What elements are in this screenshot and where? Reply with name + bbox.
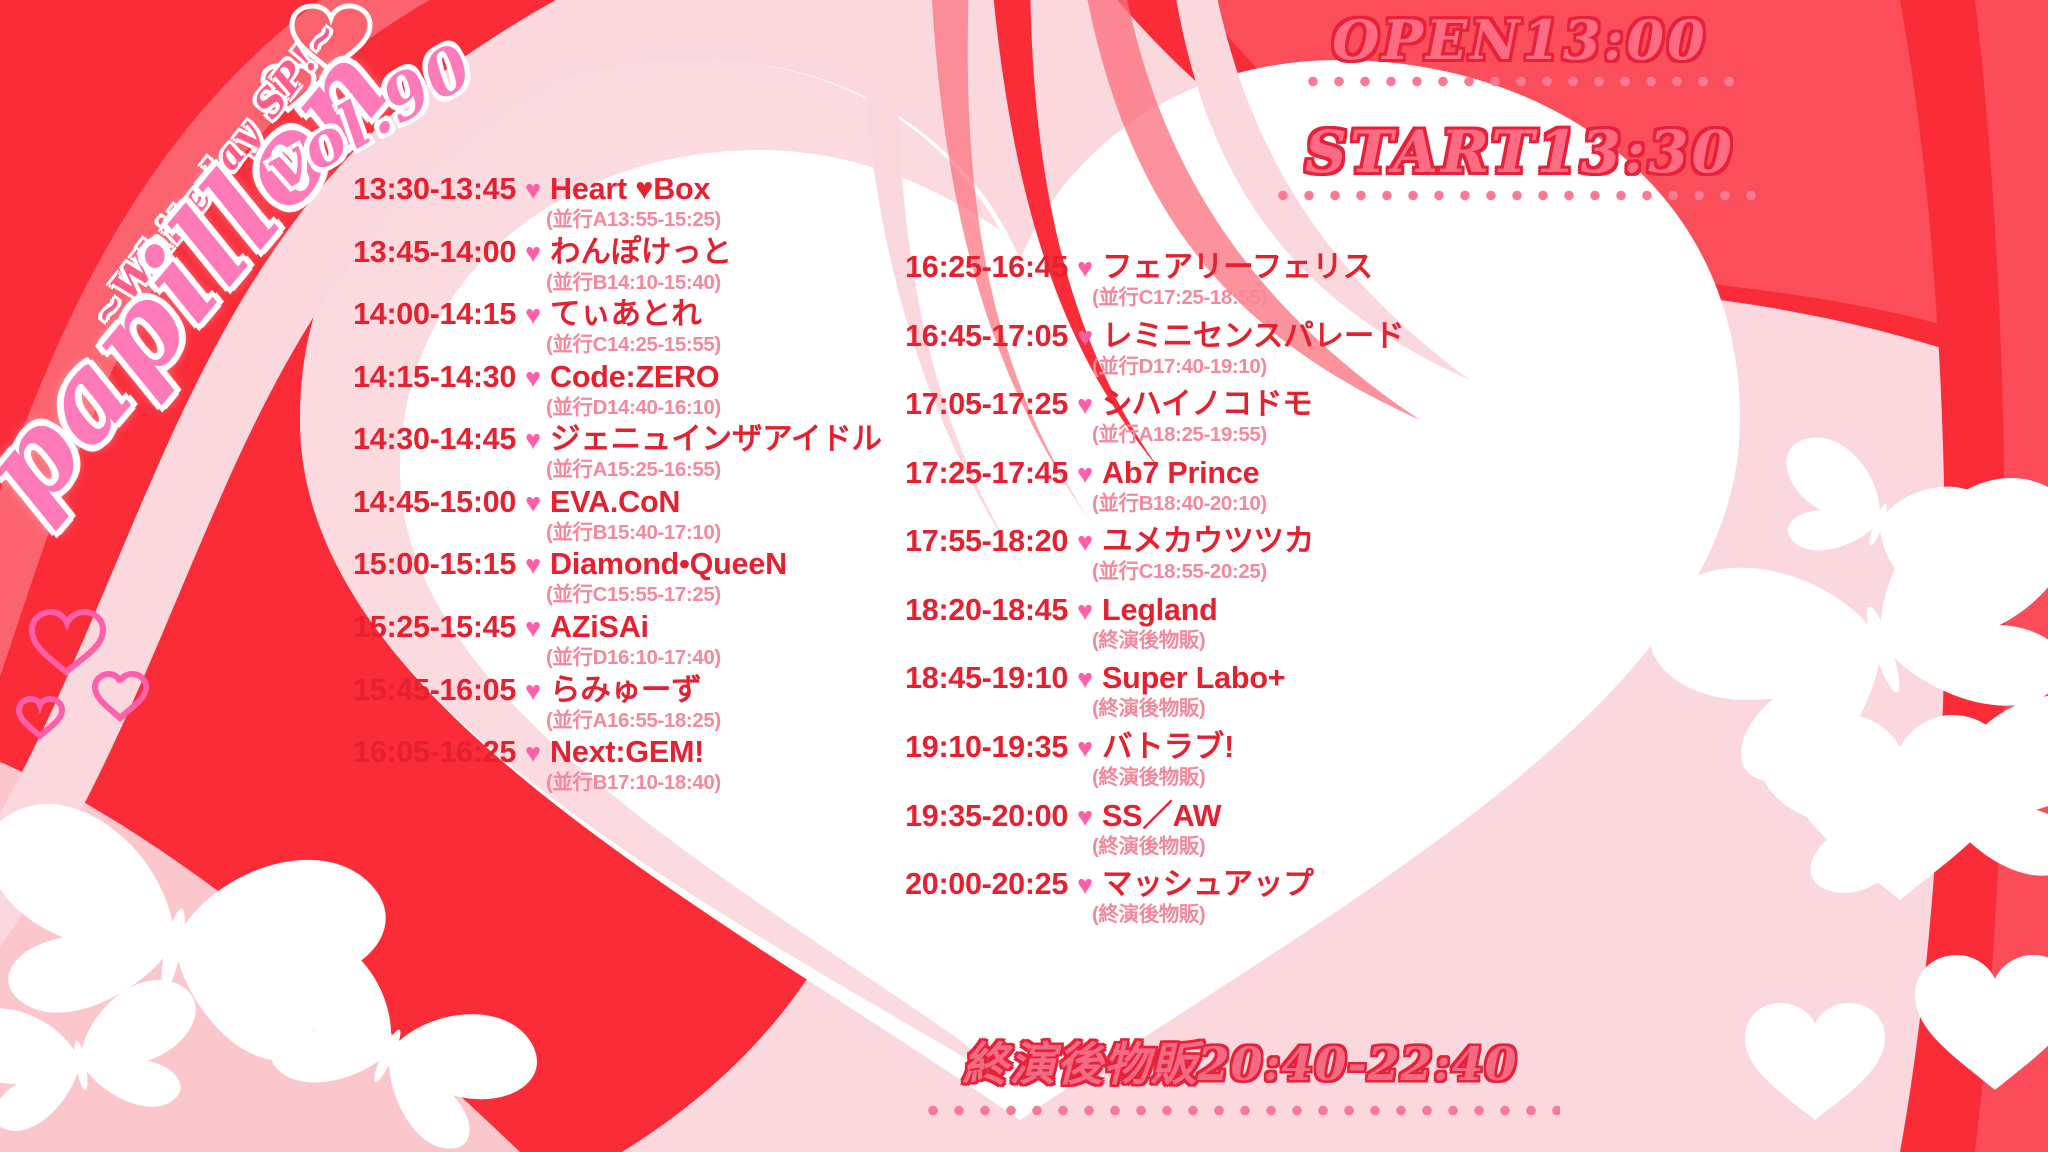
schedule-slot: 18:20-18:45♥Legland(終演後物販)	[830, 593, 1390, 654]
schedule-slot-note: (終演後物販)	[1092, 835, 1390, 860]
schedule-slot: 16:05-16:25♥Next:GEM!(並行B17:10-18:40)	[300, 735, 860, 796]
schedule-column-right: 16:25-16:45♥フェアリーフェリス(並行C17:25-18:55)16:…	[830, 250, 1390, 936]
schedule-slot-artist: ユメカウツツカ	[1102, 524, 1314, 560]
schedule-slot-main: 17:25-17:45♥Ab7 Prince	[830, 456, 1390, 492]
schedule-slot: 19:35-20:00♥SS／AW(終演後物販)	[830, 799, 1390, 860]
schedule-slot: 13:45-14:00♥わんぽけっと(並行B14:10-15:40)	[300, 235, 860, 296]
schedule-slot-artist: SS／AW	[1102, 799, 1221, 835]
schedule-slot-artist: EVA.CoN	[550, 485, 680, 521]
schedule-slot: 14:15-14:30♥Code:ZERO(並行D14:40-16:10)	[300, 360, 860, 421]
schedule-slot-main: 19:35-20:00♥SS／AW	[830, 799, 1390, 835]
schedule-slot: 15:00-15:15♥Diamond•QueeN(並行C15:55-17:25…	[300, 547, 860, 608]
schedule-slot-note: (並行C18:55-20:25)	[1092, 560, 1390, 585]
schedule-slot-main: 13:30-13:45♥Heart ♥Box	[300, 172, 860, 208]
schedule-slot-main: 15:00-15:15♥Diamond•QueeN	[300, 547, 860, 583]
footer-divider	[920, 1104, 1560, 1117]
schedule-slot-note: (並行B15:40-17:10)	[546, 521, 860, 546]
schedule-slot-time: 14:00-14:15	[300, 297, 516, 333]
schedule-slot: 15:25-15:45♥AZiSAi(並行D16:10-17:40)	[300, 610, 860, 671]
schedule-slot: 15:45-16:05♥らみゅーず(並行A16:55-18:25)	[300, 673, 860, 734]
schedule-slot-artist: Next:GEM!	[550, 735, 704, 771]
heart-icon: ♥	[1077, 598, 1093, 625]
schedule-slot-time: 18:45-19:10	[830, 661, 1068, 697]
schedule-slot-main: 18:45-19:10♥Super Labo+	[830, 661, 1390, 697]
schedule-slot-time: 14:15-14:30	[300, 360, 516, 396]
schedule-slot-artist: Legland	[1102, 593, 1218, 629]
schedule-slot: 14:30-14:45♥ジェニュインザアイドル(並行A15:25-16:55)	[300, 422, 860, 483]
heart-icon: ♥	[1077, 461, 1093, 488]
heart-icon: ♥	[525, 427, 541, 454]
open-start-block: OPEN13:00 START13:30	[1180, 12, 1860, 202]
schedule-slot-artist: AZiSAi	[550, 610, 649, 646]
schedule-slot-note: (並行A18:25-19:55)	[1092, 423, 1390, 448]
schedule-slot-main: 13:45-14:00♥わんぽけっと	[300, 235, 860, 271]
schedule-slot-time: 17:55-18:20	[830, 524, 1068, 560]
schedule-slot-note: (並行C17:25-18:55)	[1092, 286, 1390, 311]
schedule-slot-artist: Super Labo+	[1102, 661, 1285, 697]
schedule-slot: 17:55-18:20♥ユメカウツツカ(並行C18:55-20:25)	[830, 524, 1390, 585]
open-time-label: OPEN13:00	[1180, 12, 1860, 69]
schedule-slot-main: 15:25-15:45♥AZiSAi	[300, 610, 860, 646]
heart-icon: ♥	[525, 177, 541, 204]
schedule-slot-main: 14:15-14:30♥Code:ZERO	[300, 360, 860, 396]
heart-icon: ♥	[1077, 804, 1093, 831]
schedule-slot-note: (並行B18:40-20:10)	[1092, 492, 1390, 517]
schedule-slot-time: 16:45-17:05	[830, 319, 1068, 355]
heart-icon: ♥	[1077, 392, 1093, 419]
schedule-slot-time: 19:10-19:35	[830, 730, 1068, 766]
schedule-slot-main: 19:10-19:35♥バトラブ!	[830, 730, 1390, 766]
heart-icon: ♥	[525, 615, 541, 642]
schedule-slot-note: (並行A13:55-15:25)	[546, 208, 860, 233]
schedule-slot-note: (並行A15:25-16:55)	[546, 458, 860, 483]
schedule-slot-main: 15:45-16:05♥らみゅーず	[300, 673, 860, 709]
schedule-slot-note: (並行B14:10-15:40)	[546, 271, 860, 296]
schedule-slot-artist: Ab7 Prince	[1102, 456, 1259, 492]
schedule-slot-time: 14:30-14:45	[300, 422, 516, 458]
schedule-slot-note: (終演後物販)	[1092, 697, 1390, 722]
schedule-slot-note: (並行A16:55-18:25)	[546, 709, 860, 734]
heart-icon: ♥	[1077, 324, 1093, 351]
schedule-slot-note: (並行B17:10-18:40)	[546, 771, 860, 796]
schedule-slot-time: 13:30-13:45	[300, 172, 516, 208]
schedule-slot-time: 13:45-14:00	[300, 235, 516, 271]
schedule-slot-time: 16:25-16:45	[830, 250, 1068, 286]
schedule-slot: 17:05-17:25♥シハイノコドモ(並行A18:25-19:55)	[830, 387, 1390, 448]
schedule-slot-artist: てぃあとれ	[550, 297, 702, 333]
heart-icon: ♥	[525, 365, 541, 392]
heart-icon: ♥	[525, 678, 541, 705]
schedule-slot-main: 20:00-20:25♥マッシュアップ	[830, 867, 1390, 903]
schedule-slot-artist: らみゅーず	[550, 673, 702, 709]
schedule-slot-artist: レミニセンスパレード	[1102, 319, 1404, 355]
schedule-slot-main: 14:30-14:45♥ジェニュインザアイドル	[300, 422, 860, 458]
schedule-slot-artist: わんぽけっと	[550, 235, 732, 271]
schedule-slot: 19:10-19:35♥バトラブ!(終演後物販)	[830, 730, 1390, 791]
schedule-slot-time: 20:00-20:25	[830, 867, 1068, 903]
heart-icon: ♥	[1077, 255, 1093, 282]
schedule-slot-time: 17:05-17:25	[830, 387, 1068, 423]
schedule-slot: 13:30-13:45♥Heart ♥Box(並行A13:55-15:25)	[300, 172, 860, 233]
schedule-slot-main: 16:25-16:45♥フェアリーフェリス	[830, 250, 1390, 286]
schedule-slot-note: (並行C15:55-17:25)	[546, 583, 860, 608]
schedule-slot-main: 17:05-17:25♥シハイノコドモ	[830, 387, 1390, 423]
schedule-slot-note: (終演後物販)	[1092, 903, 1390, 928]
schedule-slot-note: (並行C14:25-15:55)	[546, 333, 860, 358]
heart-icon: ♥	[1077, 529, 1093, 556]
schedule-slot-time: 15:00-15:15	[300, 547, 516, 583]
schedule-slot-time: 16:05-16:25	[300, 735, 516, 771]
schedule-slot-artist: シハイノコドモ	[1102, 387, 1313, 423]
schedule-column-left: 13:30-13:45♥Heart ♥Box(並行A13:55-15:25)13…	[300, 172, 860, 798]
schedule-slot-time: 18:20-18:45	[830, 593, 1068, 629]
heart-icon: ♥	[1077, 872, 1093, 899]
schedule-slot-time: 17:25-17:45	[830, 456, 1068, 492]
heart-icon: ♥	[525, 490, 541, 517]
schedule-slot-time: 15:45-16:05	[300, 673, 516, 709]
schedule-slot-main: 17:55-18:20♥ユメカウツツカ	[830, 524, 1390, 560]
schedule-slot-note: (終演後物販)	[1092, 766, 1390, 791]
open-divider	[1300, 75, 1740, 88]
heart-icon: ♥	[1077, 735, 1093, 762]
schedule-slot-main: 14:00-14:15♥てぃあとれ	[300, 297, 860, 333]
event-flyer: ~Whiteday SP!~ papillon vol.90 OPEN13:00…	[0, 0, 2048, 1152]
heart-icon: ♥	[525, 302, 541, 329]
schedule-slot-note: (並行D16:10-17:40)	[546, 646, 860, 671]
schedule-slot-note: (並行D14:40-16:10)	[546, 396, 860, 421]
schedule-slot-time: 14:45-15:00	[300, 485, 516, 521]
schedule-slot: 20:00-20:25♥マッシュアップ(終演後物販)	[830, 867, 1390, 928]
schedule-slot-artist: Code:ZERO	[550, 360, 719, 396]
schedule-slot: 16:45-17:05♥レミニセンスパレード(並行D17:40-19:10)	[830, 319, 1390, 380]
heart-icon: ♥	[1077, 666, 1093, 693]
schedule-slot: 17:25-17:45♥Ab7 Prince(並行B18:40-20:10)	[830, 456, 1390, 517]
heart-icon: ♥	[525, 740, 541, 767]
schedule-slot: 14:00-14:15♥てぃあとれ(並行C14:25-15:55)	[300, 297, 860, 358]
schedule-slot-note: (並行D17:40-19:10)	[1092, 355, 1390, 380]
schedule-slot-note: (終演後物販)	[1092, 629, 1390, 654]
heart-icon: ♥	[525, 552, 541, 579]
heart-icon: ♥	[525, 240, 541, 267]
start-divider	[1270, 189, 1770, 202]
schedule-slot-main: 18:20-18:45♥Legland	[830, 593, 1390, 629]
schedule-slot-main: 14:45-15:00♥EVA.CoN	[300, 485, 860, 521]
schedule-slot-artist: フェアリーフェリス	[1102, 250, 1373, 286]
schedule-slot: 18:45-19:10♥Super Labo+(終演後物販)	[830, 661, 1390, 722]
schedule-slot-artist: Diamond•QueeN	[550, 547, 787, 583]
schedule-slot-main: 16:45-17:05♥レミニセンスパレード	[830, 319, 1390, 355]
schedule-slot-time: 15:25-15:45	[300, 610, 516, 646]
footer-block: 終演後物販20:40-22:40	[880, 1028, 1600, 1117]
schedule-slot: 16:25-16:45♥フェアリーフェリス(並行C17:25-18:55)	[830, 250, 1390, 311]
schedule-slot-main: 16:05-16:25♥Next:GEM!	[300, 735, 860, 771]
start-time-label: START13:30	[1180, 122, 1860, 183]
schedule-slot-artist: バトラブ!	[1102, 730, 1234, 766]
post-show-merch-label: 終演後物販20:40-22:40	[880, 1028, 1600, 1094]
schedule-slot-artist: マッシュアップ	[1102, 867, 1314, 903]
schedule-slot: 14:45-15:00♥EVA.CoN(並行B15:40-17:10)	[300, 485, 860, 546]
schedule-slot-time: 19:35-20:00	[830, 799, 1068, 835]
schedule-slot-artist: Heart ♥Box	[550, 172, 710, 208]
